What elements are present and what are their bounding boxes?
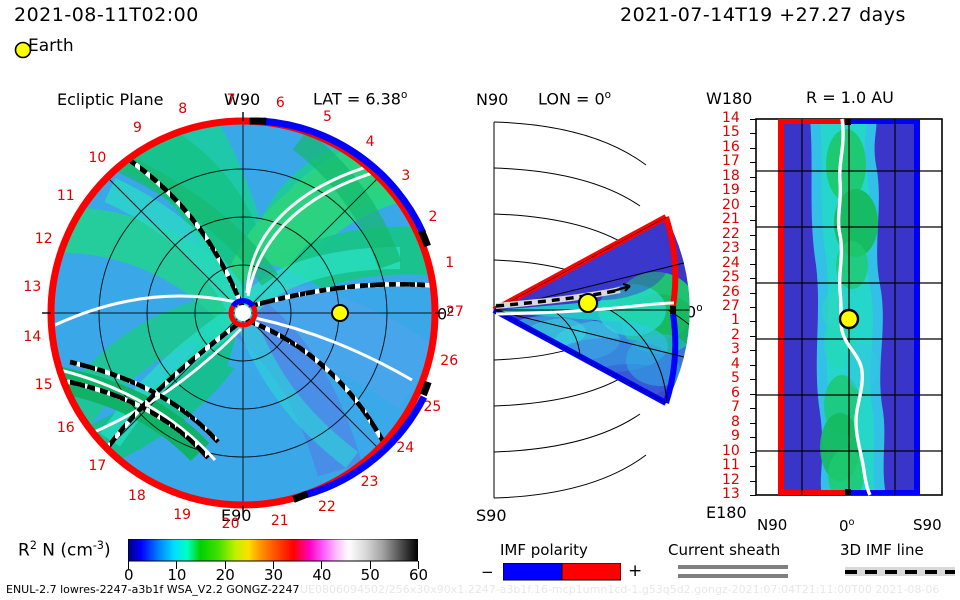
timelon-y-tick-18: 18: [722, 169, 740, 183]
imf-line-swatch: [845, 564, 955, 580]
timelon-y-tick-20: 20: [722, 198, 740, 212]
ecliptic-rim-tick-26: 26: [440, 354, 458, 368]
timelon-y-tick-3: 3: [731, 342, 740, 356]
timelon-y-tick-mark: [750, 394, 756, 395]
ecliptic-rim-tick-25: 25: [423, 400, 441, 414]
colorbar-tick-60: 60: [409, 568, 428, 583]
ecliptic-rim-tick-1: 1: [445, 256, 454, 270]
timelon-y-tick-mark: [750, 466, 756, 467]
timelon-y-tick-13: 13: [722, 487, 740, 501]
timelon-y-tick-22: 22: [722, 227, 740, 241]
meridional-south-label: S90: [476, 508, 507, 524]
timelon-y-tick-mark: [750, 206, 756, 207]
timelon-y-tick-19: 19: [722, 183, 740, 197]
ecliptic-rim-tick-13: 13: [23, 280, 41, 294]
timelon-y-tick-mark: [750, 177, 756, 178]
left-timestamp: 2021-08-11T02:00: [14, 6, 199, 25]
timelon-y-tick-mark: [750, 423, 756, 424]
timelon-y-tick-4: 4: [731, 357, 740, 371]
imf-polarity-title: IMF polarity: [500, 543, 588, 558]
colorbar-tick-10: 10: [167, 568, 186, 583]
timelon-y-tick-7: 7: [731, 400, 740, 414]
meridional-north-label: N90: [476, 92, 508, 108]
current-sheath-title: Current sheath: [668, 543, 780, 558]
timelon-y-tick-mark: [750, 191, 756, 192]
footer-watermark: UE0806094502/256x30x90x1.2247-a3b1f.16-m…: [300, 584, 939, 595]
footer-run-id: ENUL-2.7 lowres-2247-a3b1f WSA_V2.2 GONG…: [6, 584, 300, 595]
imf-plus-label: +: [628, 563, 642, 580]
timelon-y-tick-2: 2: [731, 328, 740, 342]
timelon-y-tick-mark: [750, 437, 756, 438]
ecliptic-rim-tick-15: 15: [35, 378, 53, 392]
ecliptic-rim-tick-6: 6: [276, 96, 285, 110]
current-sheath-swatch: [678, 564, 788, 580]
timelon-y-tick-mark: [750, 293, 756, 294]
timelon-y-tick-mark: [750, 408, 756, 409]
ecliptic-rim-tick-23: 23: [361, 475, 379, 489]
ecliptic-rim-tick-11: 11: [57, 189, 75, 203]
meridional-panel-title: LON = 0o: [538, 90, 611, 107]
colorbar-tick-0: 0: [124, 568, 134, 583]
timelon-y-tick-mark: [750, 278, 756, 279]
timelon-y-tick-14: 14: [722, 111, 740, 125]
ecliptic-rim-tick-9: 9: [133, 121, 142, 135]
earth-marker-ecliptic: [332, 305, 348, 321]
imf-line-title: 3D IMF line: [840, 543, 924, 558]
timelon-y-tick-mark: [750, 336, 756, 337]
timelon-y-tick-11: 11: [722, 458, 740, 472]
ecliptic-rim-tick-16: 16: [57, 421, 75, 435]
timelon-y-tick-mark: [750, 365, 756, 366]
ecliptic-rim-tick-14: 14: [23, 330, 41, 344]
colorbar-tick-20: 20: [216, 568, 235, 583]
meridional-plane-plot: [460, 110, 700, 510]
timelon-y-tick-9: 9: [731, 429, 740, 443]
timelon-y-tick-24: 24: [722, 256, 740, 270]
timelon-y-tick-mark: [750, 307, 756, 308]
earth-legend-label: Earth: [28, 38, 74, 55]
timelon-left-polarity-bar: [778, 119, 784, 495]
timelon-y-tick-8: 8: [731, 415, 740, 429]
timelon-y-tick-25: 25: [722, 270, 740, 284]
ecliptic-rim-tick-3: 3: [401, 169, 410, 183]
ecliptic-rim-tick-5: 5: [323, 110, 332, 124]
timelon-y-tick-mark: [750, 379, 756, 380]
timelon-y-tick-23: 23: [722, 241, 740, 255]
timelon-y-tick-1: 1: [731, 313, 740, 327]
wsa-enlil-visualization: 2021-08-11T02:00 2021-07-14T19 +27.27 da…: [0, 0, 960, 600]
timelon-y-tick-mark: [750, 350, 756, 351]
timelon-y-tick-mark: [750, 220, 756, 221]
colorbar-gradient: [128, 539, 418, 563]
colorbar-tick-30: 30: [264, 568, 283, 583]
right-timestamp: 2021-07-14T19 +27.27 days: [620, 6, 906, 25]
colorbar-label: R2 N (cm-3): [18, 540, 111, 560]
imf-polarity-swatch: [503, 563, 621, 581]
timelon-x-right: S90: [913, 518, 942, 533]
timelon-y-tick-12: 12: [722, 473, 740, 487]
timelon-y-tick-5: 5: [731, 371, 740, 385]
ecliptic-rim-tick-22: 22: [318, 500, 336, 514]
ecliptic-rim-tick-2: 2: [428, 210, 437, 224]
timelon-panel-title: R = 1.0 AU: [806, 90, 894, 106]
timelon-y-tick-mark: [750, 148, 756, 149]
ecliptic-rim-tick-4: 4: [366, 135, 375, 149]
timelon-x-center: 0o: [839, 518, 855, 534]
timelon-y-tick-mark: [750, 481, 756, 482]
timelon-y-tick-mark: [750, 162, 756, 163]
timelon-y-tick-mark: [750, 452, 756, 453]
earth-marker-timelon: [840, 310, 858, 328]
timelon-y-tick-mark: [750, 119, 756, 120]
timelon-y-tick-15: 15: [722, 125, 740, 139]
ecliptic-rim-tick-20: 20: [222, 517, 240, 531]
ecliptic-rim-tick-10: 10: [89, 151, 107, 165]
ecliptic-rim-tick-17: 17: [89, 459, 107, 473]
timelon-y-tick-6: 6: [731, 386, 740, 400]
timelon-y-tick-mark: [750, 235, 756, 236]
timelon-y-tick-26: 26: [722, 285, 740, 299]
colorbar-tick-40: 40: [312, 568, 331, 583]
earth-marker-meridional: [579, 294, 597, 312]
ecliptic-rim-tick-12: 12: [35, 232, 53, 246]
colorbar-tick-50: 50: [361, 568, 380, 583]
timelon-y-tick-mark: [750, 264, 756, 265]
ecliptic-rim-tick-24: 24: [396, 441, 414, 455]
timelon-y-tick-17: 17: [722, 154, 740, 168]
ecliptic-rim-tick-8: 8: [178, 102, 187, 116]
ecliptic-rim-tick-19: 19: [173, 508, 191, 522]
ecliptic-rim-tick-21: 21: [271, 514, 289, 528]
timelon-y-tick-mark: [750, 321, 756, 322]
timelon-y-tick-mark: [750, 133, 756, 134]
timelon-right-polarity-bar: [914, 119, 920, 495]
timelon-y-tick-10: 10: [722, 444, 740, 458]
ecliptic-rim-tick-18: 18: [128, 489, 146, 503]
timelon-x-left: N90: [757, 518, 787, 533]
ecliptic-rim-tick-7: 7: [227, 93, 236, 107]
timelon-y-tick-mark: [750, 495, 756, 496]
timelon-y-tick-16: 16: [722, 140, 740, 154]
imf-minus-label: −: [481, 565, 494, 580]
timelon-y-tick-mark: [750, 249, 756, 250]
ecliptic-plane-plot: [0, 80, 470, 530]
timelon-y-tick-27: 27: [722, 299, 740, 313]
timelon-y-tick-21: 21: [722, 212, 740, 226]
